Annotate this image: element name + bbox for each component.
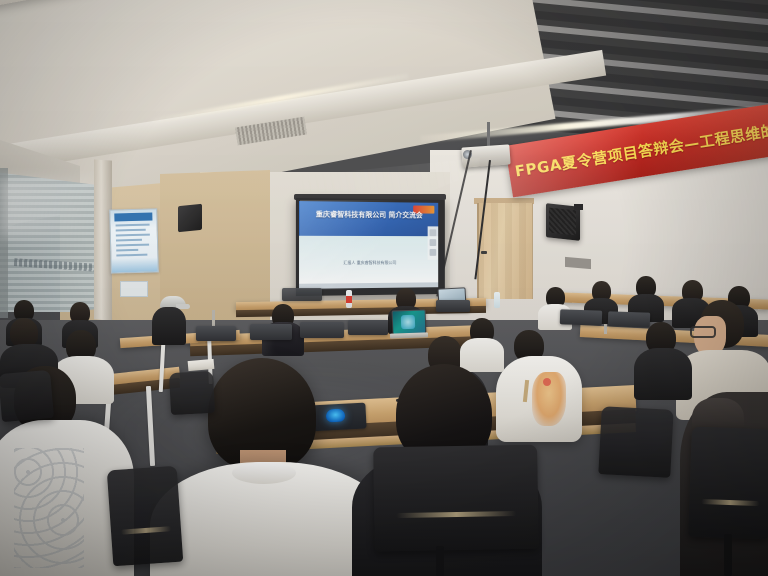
wall-speaker-mount (574, 204, 583, 210)
wireless-mouse[interactable] (326, 409, 346, 423)
projection-screen: 重庆睿智科技有限公司 简介交流会 汇报人 重庆睿智科技有限公司 (296, 198, 445, 296)
tshirt-graphic-accent (543, 378, 551, 386)
monitor[interactable] (608, 311, 650, 327)
audience-body (634, 348, 692, 400)
slide-icon-2 (430, 239, 437, 246)
projection-screen-surface: 重庆睿智科技有限公司 简介交流会 汇报人 重庆睿智科技有限公司 (299, 201, 438, 289)
slide-icon-3 (430, 249, 437, 256)
chair-backrest-slot (121, 526, 171, 534)
secondary-poster (120, 281, 148, 297)
office-chair[interactable] (598, 406, 673, 478)
collar (232, 462, 296, 484)
slide-icon-1 (430, 229, 437, 236)
monitor[interactable] (282, 288, 322, 301)
door-handle[interactable] (481, 251, 487, 254)
slide-subtitle: 汇报人 重庆睿智科技有限公司 (299, 260, 438, 267)
shirt-pattern (14, 448, 84, 568)
projector-mount-pole (487, 122, 490, 148)
slide-title: 重庆睿智科技有限公司 简介交流会 (299, 210, 438, 220)
window-daylight-glow (0, 178, 100, 238)
wall-speaker-left (178, 204, 202, 233)
wall-panel-plate (565, 257, 591, 269)
chair-leg (436, 546, 444, 576)
chair-backrest-slot (396, 511, 516, 518)
laptop[interactable] (392, 309, 427, 334)
laptop-screen (393, 310, 426, 333)
monitor[interactable] (196, 326, 236, 341)
office-chair[interactable] (688, 427, 768, 540)
monitor[interactable] (348, 320, 388, 335)
monitor[interactable] (436, 300, 470, 312)
audience-body (460, 338, 504, 372)
water-bottle-label (346, 296, 352, 303)
glasses-icon (690, 326, 716, 338)
chair-leg (724, 534, 732, 576)
audience-body-sleeveless (152, 307, 186, 345)
chair-backrest-slot (701, 499, 759, 506)
office-chair[interactable] (107, 466, 184, 567)
monitor[interactable] (300, 322, 344, 338)
office-chair[interactable] (169, 371, 215, 415)
notice-poster (109, 208, 159, 273)
water-bottle-right[interactable] (494, 292, 500, 308)
slide-sidebar-icons (428, 226, 439, 259)
monitor[interactable] (560, 309, 602, 325)
lecture-room-photo: FPGA夏令营项目答辩会—工程思维的塑造 工程方法的 重庆睿智科技有限公司 简介… (0, 0, 768, 576)
wall-speaker-mesh (549, 208, 576, 236)
monitor[interactable] (250, 324, 292, 340)
office-chair[interactable] (0, 370, 54, 422)
office-chair[interactable] (373, 445, 539, 552)
